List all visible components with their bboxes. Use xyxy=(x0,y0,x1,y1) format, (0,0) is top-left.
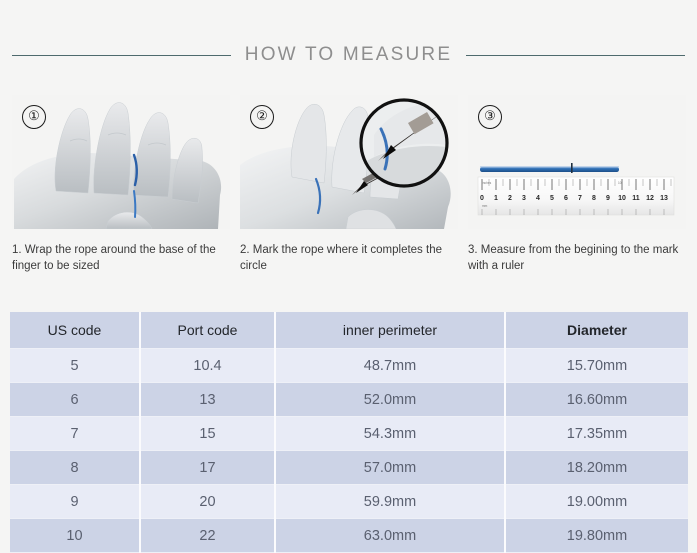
step-2: ② 2. Mark the rope where it completes th… xyxy=(240,95,458,274)
page-header: HOW TO MEASURE xyxy=(0,40,697,70)
cell-port-code: 22 xyxy=(140,519,275,553)
step-3-image: inches 10 xyxy=(468,95,686,229)
svg-text:mm: mm xyxy=(482,204,488,208)
step-2-caption: 2. Mark the rope where it completes the … xyxy=(240,243,452,274)
step-2-badge: ② xyxy=(250,105,274,129)
svg-text:10: 10 xyxy=(618,181,622,185)
table-header-port-code: Port code xyxy=(140,312,275,349)
table-row: 8 17 57.0mm 18.20mm xyxy=(10,451,688,485)
svg-text:9: 9 xyxy=(606,195,610,202)
table-row: 10 22 63.0mm 19.80mm xyxy=(10,519,688,553)
svg-text:5: 5 xyxy=(550,195,554,202)
table-row: 5 10.4 48.7mm 15.70mm xyxy=(10,349,688,383)
svg-text:13: 13 xyxy=(660,195,668,202)
page-title: HOW TO MEASURE xyxy=(245,44,452,66)
ring-size-table: US code Port code inner perimeter Diamet… xyxy=(10,312,688,553)
cell-us-code: 10 xyxy=(10,519,140,553)
step-1: ① 1. Wrap the rope around the base of th… xyxy=(12,95,230,274)
table-row: 9 20 59.9mm 19.00mm xyxy=(10,485,688,519)
cell-inner-perimeter: 54.3mm xyxy=(275,417,505,451)
rope-mark xyxy=(571,163,573,173)
cell-inner-perimeter: 48.7mm xyxy=(275,349,505,383)
table-header-us-code: US code xyxy=(10,312,140,349)
cell-us-code: 5 xyxy=(10,349,140,383)
steps-row: ① 1. Wrap the rope around the base of th… xyxy=(12,95,685,274)
step-3: inches 10 xyxy=(468,95,686,274)
svg-text:2: 2 xyxy=(508,195,512,202)
cell-diameter: 17.35mm xyxy=(505,417,688,451)
cell-port-code: 15 xyxy=(140,417,275,451)
table-header-diameter: Diameter xyxy=(505,312,688,349)
table-header-inner-perimeter: inner perimeter xyxy=(275,312,505,349)
step-3-caption: 3. Measure from the begining to the mark… xyxy=(468,243,680,274)
cell-port-code: 10.4 xyxy=(140,349,275,383)
svg-text:8: 8 xyxy=(592,195,596,202)
table-body: 5 10.4 48.7mm 15.70mm 6 13 52.0mm 16.60m… xyxy=(10,349,688,553)
svg-text:12: 12 xyxy=(646,195,654,202)
cell-diameter: 19.80mm xyxy=(505,519,688,553)
svg-text:0: 0 xyxy=(480,195,484,202)
step-3-badge: ③ xyxy=(478,105,502,129)
cell-diameter: 18.20mm xyxy=(505,451,688,485)
cell-inner-perimeter: 59.9mm xyxy=(275,485,505,519)
cell-diameter: 15.70mm xyxy=(505,349,688,383)
table-header: US code Port code inner perimeter Diamet… xyxy=(10,312,688,349)
svg-text:3: 3 xyxy=(522,195,526,202)
cell-us-code: 9 xyxy=(10,485,140,519)
header-rule-left xyxy=(12,55,231,56)
svg-text:1: 1 xyxy=(494,195,498,202)
cell-inner-perimeter: 63.0mm xyxy=(275,519,505,553)
table-header-row: US code Port code inner perimeter Diamet… xyxy=(10,312,688,349)
svg-text:6: 6 xyxy=(564,195,568,202)
step-1-image: ① xyxy=(12,95,230,229)
cell-port-code: 13 xyxy=(140,383,275,417)
svg-text:7: 7 xyxy=(578,195,582,202)
step-2-image: ② xyxy=(240,95,458,229)
cell-port-code: 17 xyxy=(140,451,275,485)
step-1-caption: 1. Wrap the rope around the base of the … xyxy=(12,243,224,274)
cell-diameter: 16.60mm xyxy=(505,383,688,417)
cell-inner-perimeter: 52.0mm xyxy=(275,383,505,417)
step-1-badge: ① xyxy=(22,105,46,129)
cell-us-code: 6 xyxy=(10,383,140,417)
cell-diameter: 19.00mm xyxy=(505,485,688,519)
header-rule-right xyxy=(466,55,685,56)
cell-us-code: 7 xyxy=(10,417,140,451)
svg-text:10: 10 xyxy=(618,195,626,202)
cell-us-code: 8 xyxy=(10,451,140,485)
svg-text:inches: inches xyxy=(482,181,492,185)
cell-inner-perimeter: 57.0mm xyxy=(275,451,505,485)
rope-bar xyxy=(480,167,619,172)
table-row: 7 15 54.3mm 17.35mm xyxy=(10,417,688,451)
cell-port-code: 20 xyxy=(140,485,275,519)
svg-text:4: 4 xyxy=(536,195,540,202)
svg-text:11: 11 xyxy=(632,195,640,202)
table-row: 6 13 52.0mm 16.60mm xyxy=(10,383,688,417)
